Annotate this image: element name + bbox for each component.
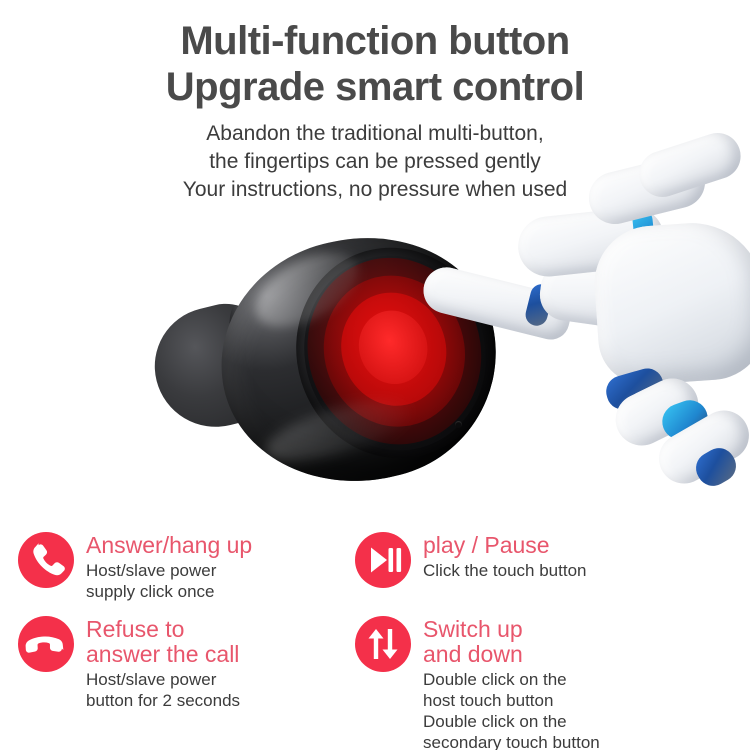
phone-decline-glyph — [18, 616, 74, 672]
play-pause-glyph — [355, 532, 411, 588]
product-infographic: Multi-function button Upgrade smart cont… — [0, 0, 750, 750]
feature-item-refuse-call: Refuse to answer the call Host/slave pow… — [18, 616, 338, 711]
phone-call-icon — [18, 532, 74, 588]
page-title-line-1: Multi-function button — [0, 18, 750, 64]
robotic-hand-image — [400, 150, 750, 530]
robotic-palm — [591, 218, 750, 387]
feature-list: Answer/hang up Host/slave power supply c… — [0, 524, 750, 750]
feature-item-play-pause: play / Pause Click the touch button — [355, 532, 725, 588]
feature-description: Host/slave power supply click once — [86, 560, 252, 602]
feature-item-answer-hangup: Answer/hang up Host/slave power supply c… — [18, 532, 338, 602]
play-pause-icon — [355, 532, 411, 588]
product-stage — [0, 215, 750, 525]
feature-title: Switch up and down — [423, 617, 600, 667]
feature-item-switch-up-down: Switch up and down Double click on the h… — [355, 616, 735, 750]
phone-decline-icon — [18, 616, 74, 672]
arrows-up-down-icon — [355, 616, 411, 672]
feature-description: Host/slave power button for 2 seconds — [86, 669, 240, 711]
feature-description: Double click on the host touch button Do… — [423, 669, 600, 750]
feature-description: Click the touch button — [423, 560, 586, 581]
arrows-up-down-glyph — [355, 616, 411, 672]
feature-text-switch-up-down: Switch up and down Double click on the h… — [423, 616, 600, 750]
feature-title: Answer/hang up — [86, 533, 252, 558]
feature-title: Refuse to answer the call — [86, 617, 240, 667]
subtitle-line-1: Abandon the traditional multi-button, — [0, 120, 750, 148]
feature-text-play-pause: play / Pause Click the touch button — [423, 532, 586, 581]
phone-call-glyph — [18, 532, 74, 588]
feature-title: play / Pause — [423, 533, 586, 558]
feature-text-refuse-call: Refuse to answer the call Host/slave pow… — [86, 616, 240, 711]
page-title-line-2: Upgrade smart control — [0, 64, 750, 110]
feature-text-answer-hangup: Answer/hang up Host/slave power supply c… — [86, 532, 252, 602]
